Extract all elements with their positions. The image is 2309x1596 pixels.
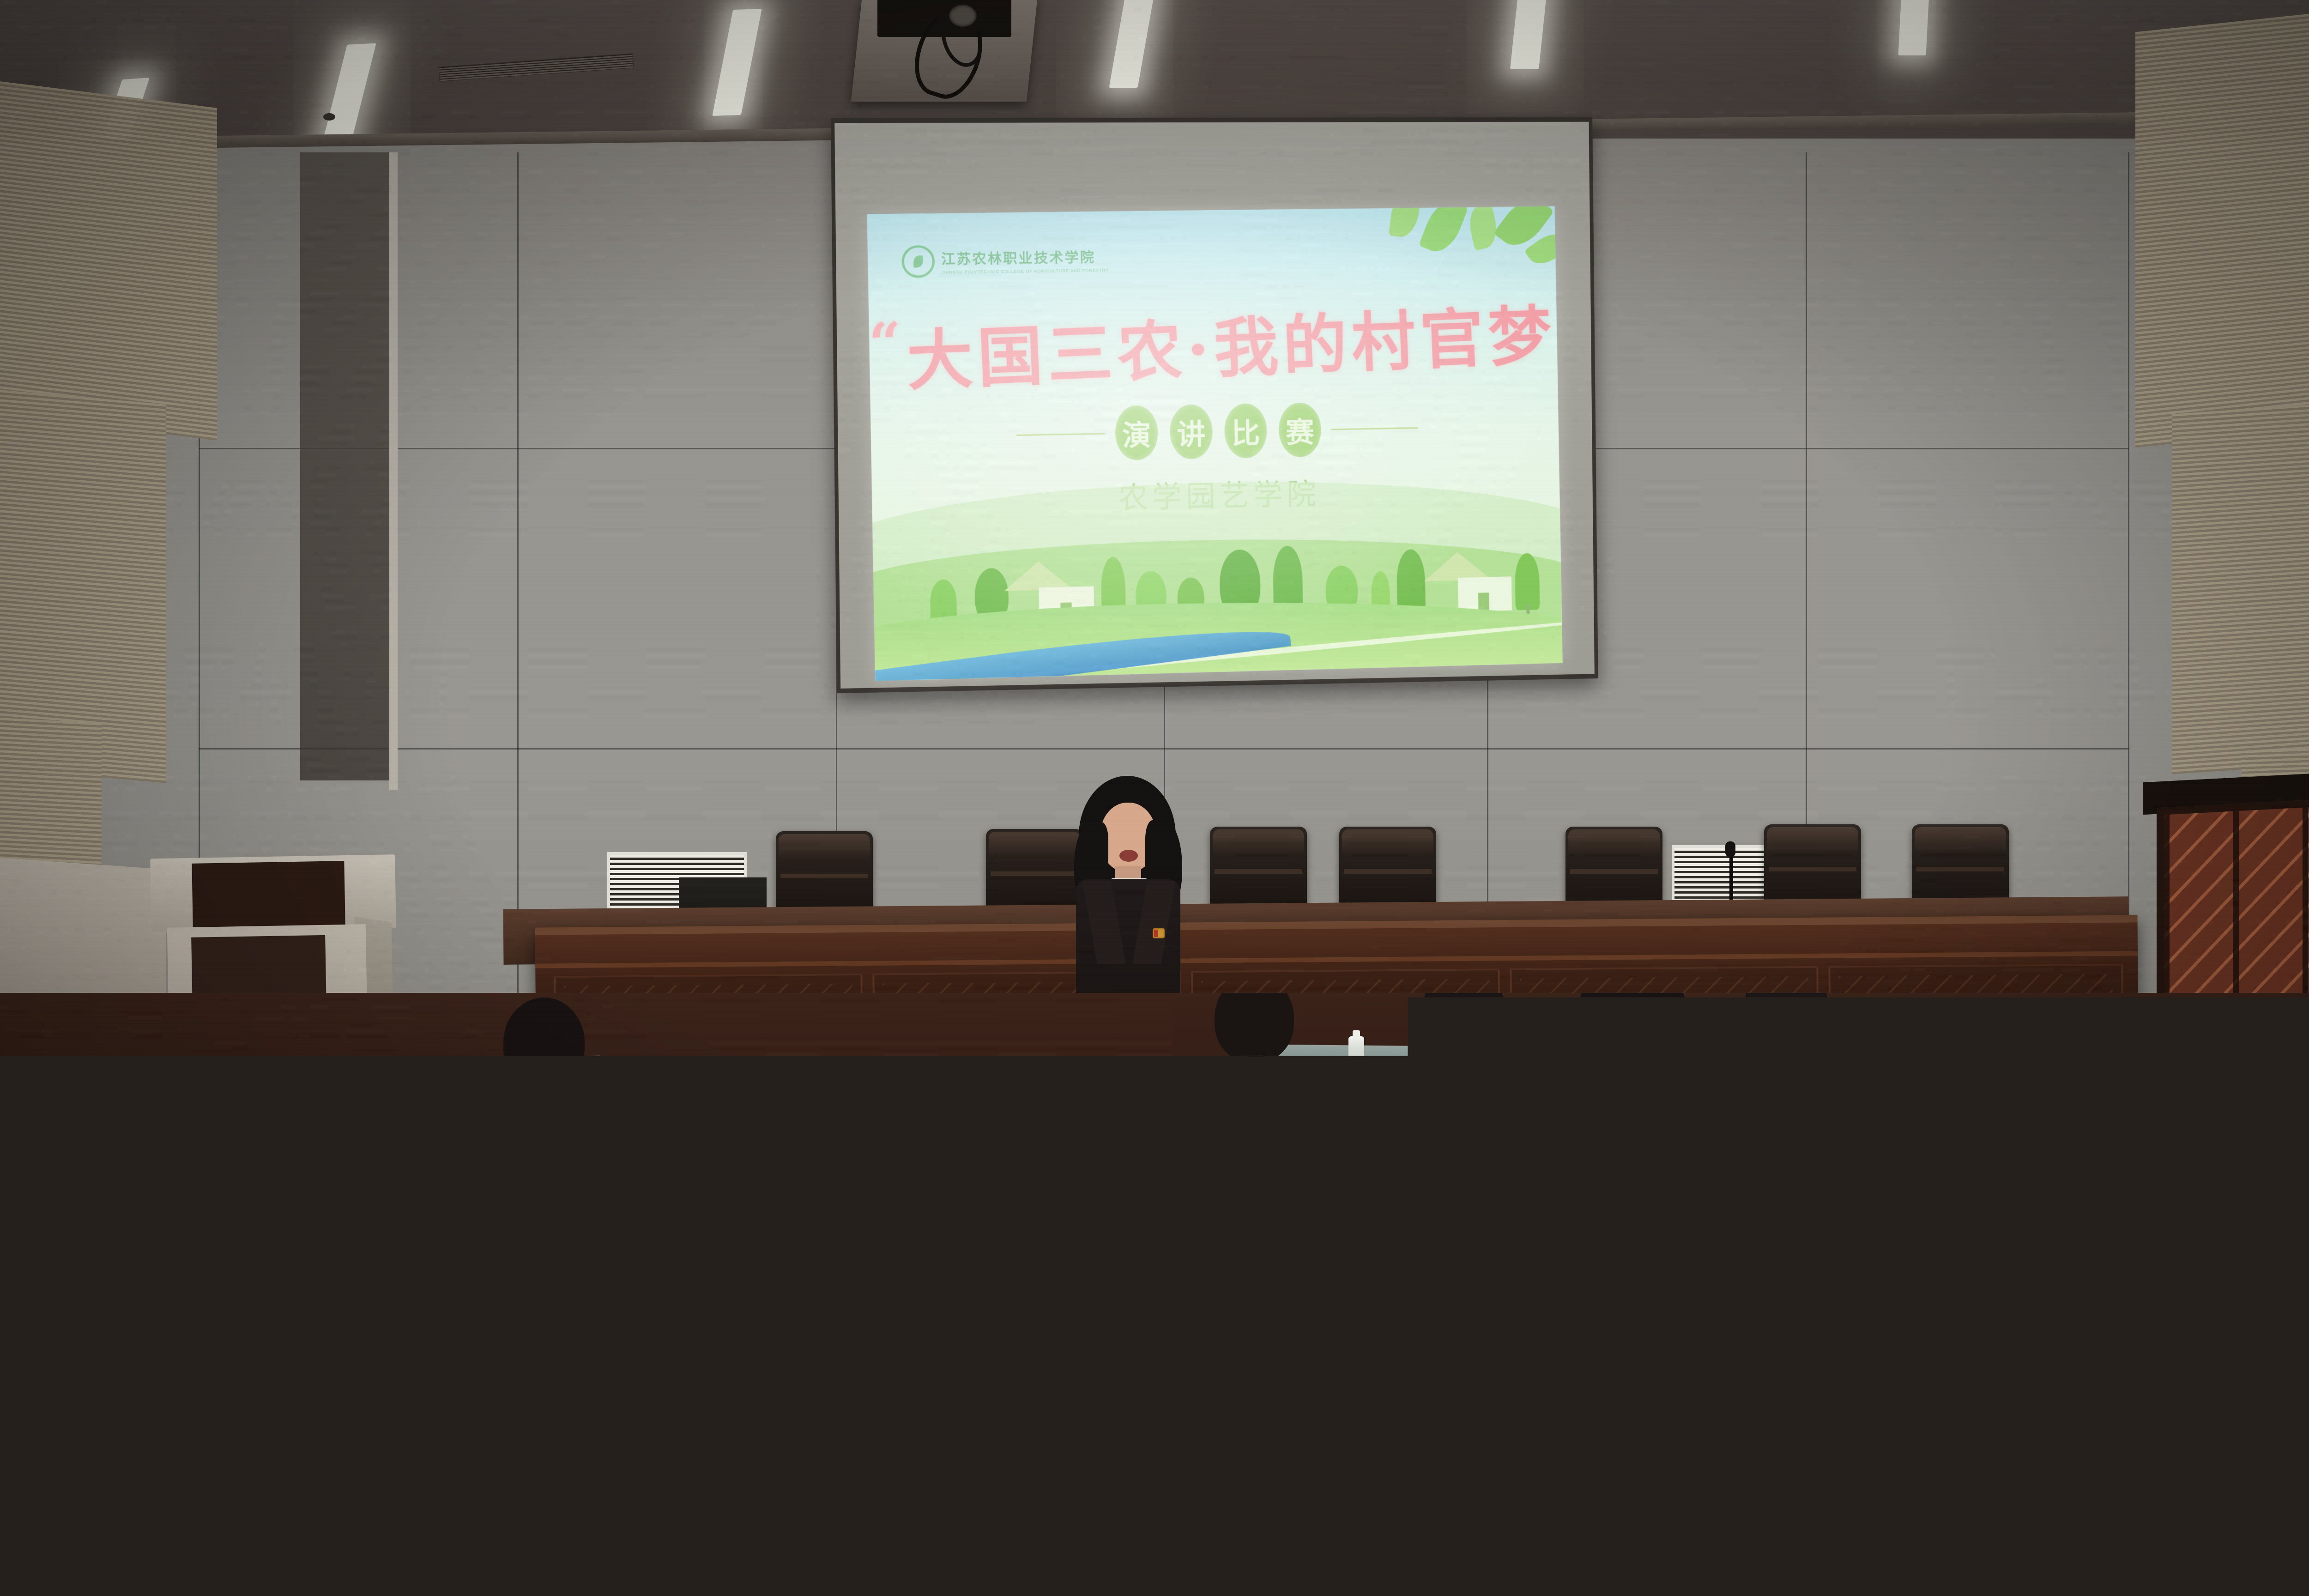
stage-chair-4 xyxy=(1339,827,1436,912)
presentation-slide: 江苏农林职业技术学院 JIANGSU POLYTECHNIC COLLEGE O… xyxy=(867,206,1562,681)
stage-chair-1 xyxy=(776,831,873,917)
side-wall-panel-right-upper xyxy=(2135,5,2309,448)
lecture-hall-photo: 江苏农林职业技术学院 JIANGSU POLYTECHNIC COLLEGE O… xyxy=(0,0,2309,1596)
college-logo: 江苏农林职业技术学院 JIANGSU POLYTECHNIC COLLEGE O… xyxy=(901,243,1109,278)
smoke-detector-icon xyxy=(323,113,335,121)
side-wall-panel-left-upper xyxy=(0,81,217,441)
subtitle-rule-right xyxy=(1331,427,1418,430)
subtitle-char-1: 演 xyxy=(1115,405,1158,460)
projection-screen-surface: 江苏农林职业技术学院 JIANGSU POLYTECHNIC COLLEGE O… xyxy=(834,122,1595,689)
slide-title: “大国三农·我的村官梦” xyxy=(868,284,1559,405)
leaf-icon-2 xyxy=(1419,206,1469,258)
logo-institution-en: JIANGSU POLYTECHNIC COLLEGE OF AGRICULTU… xyxy=(942,268,1109,275)
side-wall-panel-right-middle xyxy=(2172,399,2309,774)
subtitle-char-4: 赛 xyxy=(1278,402,1321,457)
audience-area xyxy=(0,993,2309,1596)
village-illustration xyxy=(872,471,1563,681)
stage-chair-7 xyxy=(1912,824,2009,910)
school-emblem-icon xyxy=(901,245,935,278)
stage-chair-3 xyxy=(1210,827,1307,912)
ceiling-light-6 xyxy=(1898,0,1930,55)
projection-screen: 江苏农林职业技术学院 JIANGSU POLYTECHNIC COLLEGE O… xyxy=(831,117,1598,693)
slide-subtitle: 演 讲 比 赛 xyxy=(870,398,1559,465)
bench-d1 xyxy=(0,1458,859,1536)
subtitle-rule-left xyxy=(1016,433,1105,436)
speaker-badge-pin xyxy=(1153,928,1165,938)
ceiling-light-5 xyxy=(1510,0,1548,69)
stage-chair-5 xyxy=(1566,827,1662,912)
water-bottle-2 xyxy=(1875,1033,1891,1068)
subtitle-char-3: 比 xyxy=(1224,403,1267,459)
slide-title-text: 大国三农·我的村官梦 xyxy=(906,298,1558,399)
desk-microphone-icon xyxy=(1725,841,1735,857)
water-bottle-1 xyxy=(1348,1036,1364,1071)
leaf-icon-1 xyxy=(1389,206,1421,239)
wall-recess xyxy=(300,152,393,780)
ceiling-light-2 xyxy=(322,43,376,144)
ceiling-light-3 xyxy=(712,9,762,116)
leaf-icon-3 xyxy=(1465,206,1501,251)
ceiling-vent-icon xyxy=(438,53,634,81)
quote-open: “ xyxy=(868,309,908,377)
wall-recess-edge xyxy=(389,152,398,790)
speaker-mouth xyxy=(1119,850,1138,862)
water-bottle-3 xyxy=(840,1118,856,1154)
ceiling-light-4 xyxy=(1109,0,1154,88)
wood-lattice-panel xyxy=(2157,795,2309,1026)
stage-chair-6 xyxy=(1764,824,1861,910)
subtitle-char-2: 讲 xyxy=(1169,404,1213,459)
logo-institution-cn: 江苏农林职业技术学院 xyxy=(941,246,1109,268)
